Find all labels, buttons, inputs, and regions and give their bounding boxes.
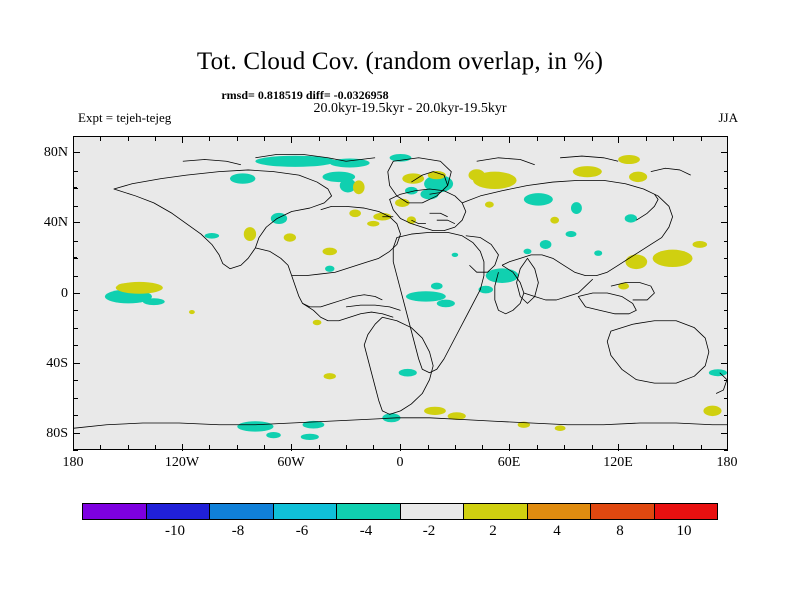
x-tick-120w xyxy=(182,444,183,451)
y-minor-tick xyxy=(74,450,78,451)
x-tick-120e xyxy=(618,444,619,451)
colorbar-label--4: -4 xyxy=(336,523,396,540)
y-minor-tick xyxy=(724,171,728,172)
colorbar-segment-3 xyxy=(273,504,337,519)
season-label: JJA xyxy=(718,110,738,126)
y-minor-tick xyxy=(724,328,728,329)
x-minor-tick xyxy=(237,137,238,141)
x-axis-label-120e: 120E xyxy=(583,455,653,471)
experiment-label: Expt = tejeh-tejeg xyxy=(78,110,171,126)
world-map xyxy=(74,137,727,449)
y-axis-label-40n: 40N xyxy=(22,215,68,231)
y-minor-tick xyxy=(74,188,78,189)
x-minor-tick xyxy=(346,137,347,141)
x-axis-label-180w: 180 xyxy=(38,455,108,471)
x-minor-tick xyxy=(209,445,210,449)
y-tick-40n xyxy=(73,222,80,223)
x-minor-tick xyxy=(128,137,129,141)
y-minor-tick xyxy=(74,328,78,329)
x-minor-tick xyxy=(482,137,483,141)
colorbar-label-4: 4 xyxy=(527,523,587,540)
y-minor-tick xyxy=(74,206,78,207)
colorbar-segment-1 xyxy=(146,504,210,519)
colorbar-label--6: -6 xyxy=(272,523,332,540)
x-axis-label-60e: 60E xyxy=(474,455,544,471)
x-minor-tick xyxy=(592,445,593,449)
x-minor-tick xyxy=(537,137,538,141)
x-tick-0 xyxy=(400,444,401,451)
x-minor-tick xyxy=(564,137,565,141)
map-plot-area xyxy=(73,136,728,450)
x-minor-tick xyxy=(428,137,429,141)
x-tick-60e xyxy=(509,444,510,451)
x-minor-tick xyxy=(100,137,101,141)
x-minor-tick xyxy=(646,445,647,449)
x-minor-tick xyxy=(373,445,374,449)
x-tick-top xyxy=(73,136,74,143)
x-minor-tick xyxy=(264,137,265,141)
x-axis-label-0: 0 xyxy=(365,455,435,471)
y-minor-tick xyxy=(724,450,728,451)
y-minor-tick xyxy=(724,345,728,346)
y-tick-0 xyxy=(73,293,80,294)
colorbar-label-8: 8 xyxy=(590,523,650,540)
colorbar-segment-7 xyxy=(527,504,591,519)
y-minor-tick xyxy=(74,415,78,416)
x-minor-tick xyxy=(237,445,238,449)
x-minor-tick xyxy=(209,137,210,141)
y-minor-tick xyxy=(724,310,728,311)
x-minor-tick xyxy=(455,445,456,449)
colorbar-label-10: 10 xyxy=(654,523,714,540)
x-minor-tick xyxy=(373,137,374,141)
y-tick-right xyxy=(721,363,728,364)
colorbar-segment-0 xyxy=(83,504,146,519)
x-tick-top xyxy=(618,136,619,143)
y-tick-40s xyxy=(73,363,80,364)
figure-canvas: Tot. Cloud Cov. (random overlap, in %) r… xyxy=(0,0,800,600)
x-tick-top xyxy=(291,136,292,143)
y-minor-tick xyxy=(74,136,78,137)
x-minor-tick xyxy=(428,445,429,449)
y-axis-label-80n: 80N xyxy=(22,145,68,161)
y-minor-tick xyxy=(724,136,728,137)
x-minor-tick xyxy=(701,445,702,449)
x-axis-label-60w: 60W xyxy=(256,455,326,471)
y-minor-tick xyxy=(724,206,728,207)
colorbar-segment-8 xyxy=(590,504,654,519)
colorbar xyxy=(82,503,718,520)
x-tick-top xyxy=(400,136,401,143)
y-tick-right xyxy=(721,152,728,153)
x-tick-top xyxy=(727,136,728,143)
y-axis-label-0: 0 xyxy=(22,286,68,302)
coastline-layer xyxy=(74,154,727,428)
y-tick-right xyxy=(721,433,728,434)
y-minor-tick xyxy=(724,415,728,416)
colorbar-label-2: 2 xyxy=(463,523,523,540)
colorbar-label--10: -10 xyxy=(145,523,205,540)
y-minor-tick xyxy=(74,241,78,242)
x-minor-tick xyxy=(482,445,483,449)
y-minor-tick xyxy=(74,380,78,381)
y-minor-tick xyxy=(724,188,728,189)
y-minor-tick xyxy=(724,241,728,242)
x-minor-tick xyxy=(100,445,101,449)
x-minor-tick xyxy=(673,445,674,449)
y-minor-tick xyxy=(724,276,728,277)
y-minor-tick xyxy=(74,171,78,172)
x-minor-tick xyxy=(155,137,156,141)
y-axis-label-40s: 40S xyxy=(22,356,68,372)
y-minor-tick xyxy=(74,276,78,277)
y-tick-right xyxy=(721,293,728,294)
x-minor-tick xyxy=(346,445,347,449)
x-minor-tick xyxy=(264,445,265,449)
y-minor-tick xyxy=(74,310,78,311)
y-minor-tick xyxy=(724,380,728,381)
y-minor-tick xyxy=(74,398,78,399)
x-minor-tick xyxy=(319,445,320,449)
anomaly-layer xyxy=(105,154,727,440)
x-minor-tick xyxy=(592,137,593,141)
colorbar-segment-2 xyxy=(209,504,273,519)
x-minor-tick xyxy=(319,137,320,141)
x-minor-tick xyxy=(701,137,702,141)
colorbar-segment-5 xyxy=(400,504,464,519)
colorbar-segment-4 xyxy=(336,504,400,519)
y-tick-right xyxy=(721,222,728,223)
y-tick-80s xyxy=(73,433,80,434)
y-axis-label-80s: 80S xyxy=(22,426,68,442)
y-minor-tick xyxy=(74,345,78,346)
colorbar-segment-9 xyxy=(654,504,718,519)
x-axis-label-120w: 120W xyxy=(147,455,217,471)
colorbar-label--8: -8 xyxy=(208,523,268,540)
colorbar-segment-6 xyxy=(463,504,527,519)
x-minor-tick xyxy=(155,445,156,449)
colorbar-label--2: -2 xyxy=(399,523,459,540)
y-minor-tick xyxy=(74,258,78,259)
page-title: Tot. Cloud Cov. (random overlap, in %) xyxy=(0,48,800,76)
x-minor-tick xyxy=(537,445,538,449)
x-minor-tick xyxy=(455,137,456,141)
x-minor-tick xyxy=(128,445,129,449)
y-tick-80n xyxy=(73,152,80,153)
x-axis-label-180e: 180 xyxy=(692,455,762,471)
x-tick-top xyxy=(509,136,510,143)
x-minor-tick xyxy=(646,137,647,141)
y-minor-tick xyxy=(724,258,728,259)
x-minor-tick xyxy=(673,137,674,141)
x-minor-tick xyxy=(564,445,565,449)
x-tick-60w xyxy=(291,444,292,451)
x-tick-top xyxy=(182,136,183,143)
y-minor-tick xyxy=(724,398,728,399)
